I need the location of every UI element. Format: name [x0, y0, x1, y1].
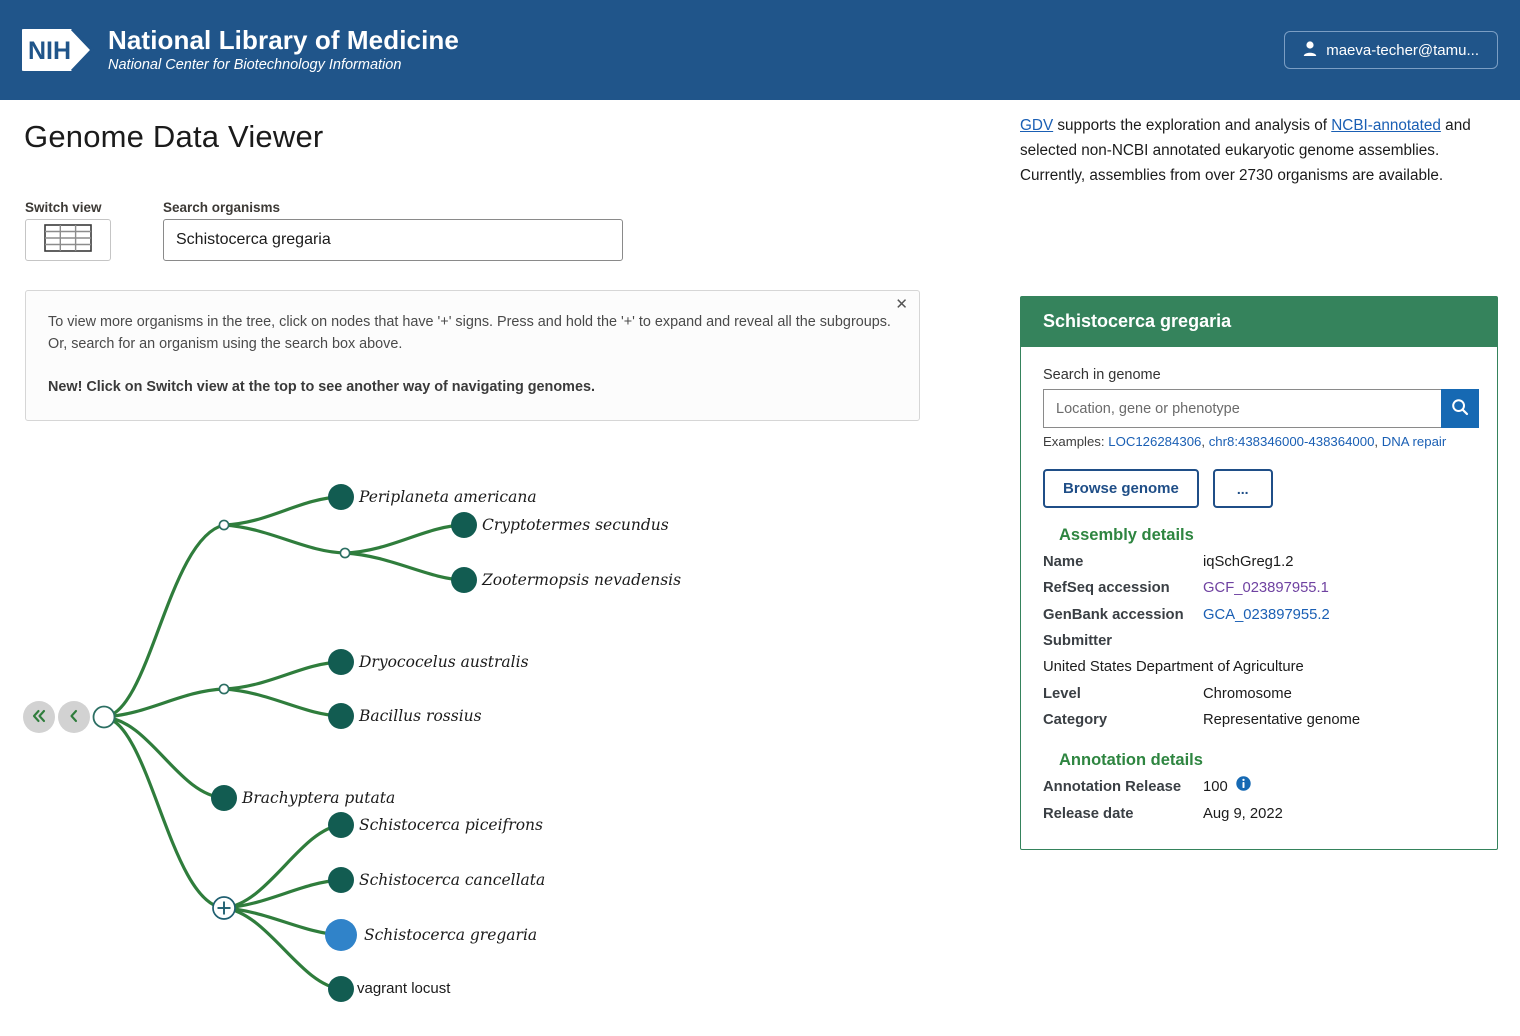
- refseq-row: RefSeq accession GCF_023897955.1: [1043, 575, 1475, 601]
- gdv-desc-part-1: supports the exploration and analysis of: [1053, 117, 1331, 134]
- genbank-label: GenBank accession: [1043, 602, 1203, 628]
- refseq-accession-link[interactable]: GCF_023897955.1: [1203, 580, 1329, 596]
- submitter-row: Submitter: [1043, 628, 1475, 654]
- example-link-region[interactable]: chr8:438346000-438364000: [1209, 434, 1375, 449]
- assembly-name-label: Name: [1043, 549, 1203, 575]
- page-title: Genome Data Viewer: [24, 119, 323, 155]
- release-date-row: Release date Aug 9, 2022: [1043, 801, 1475, 827]
- assembly-name-value: iqSchGreg1.2: [1203, 549, 1475, 575]
- annotation-release-row: Annotation Release 100: [1043, 774, 1475, 800]
- tree-leaf-node[interactable]: [328, 484, 354, 510]
- search-organisms-group: Search organisms: [163, 200, 623, 261]
- tree-node-label[interactable]: Dryococelus australis: [359, 653, 529, 671]
- submitter-label: Submitter: [1043, 628, 1203, 654]
- help-line-new: New! Click on Switch view at the top to …: [48, 376, 895, 398]
- logo-primary-text: National Library of Medicine: [108, 27, 459, 54]
- genbank-accession-link[interactable]: GCA_023897955.2: [1203, 607, 1330, 623]
- tree-leaf-node[interactable]: [451, 512, 477, 538]
- tree-help-box: ✕ To view more organisms in the tree, cl…: [25, 290, 920, 421]
- tree-leaf-node[interactable]: [328, 812, 354, 838]
- account-button[interactable]: maeva-techer@tamu...: [1284, 31, 1498, 69]
- organism-detail-panel: Schistocerca gregaria Search in genome E…: [1020, 296, 1498, 850]
- example-link-locus[interactable]: LOC126284306: [1108, 434, 1201, 449]
- person-icon: [1303, 41, 1317, 60]
- tree-leaf-node[interactable]: [211, 785, 237, 811]
- nih-logo-mark-icon: NIH: [22, 21, 94, 79]
- switch-view-button[interactable]: [25, 219, 111, 261]
- search-examples: Examples: LOC126284306, chr8:438346000-4…: [1043, 434, 1475, 449]
- example-link-phenotype[interactable]: DNA repair: [1382, 434, 1447, 449]
- tree-back-button[interactable]: [58, 701, 90, 733]
- panel-actions: Browse genome ...: [1043, 469, 1475, 508]
- logo-secondary-text: National Center for Biotechnology Inform…: [108, 58, 459, 73]
- search-genome-label: Search in genome: [1043, 367, 1475, 383]
- gdv-link[interactable]: GDV: [1020, 117, 1053, 134]
- tree-node-label[interactable]: Periplaneta americana: [359, 488, 537, 506]
- tree-node-label[interactable]: Cryptotermes secundus: [482, 516, 669, 534]
- ncbi-annotated-link[interactable]: NCBI-annotated: [1331, 117, 1441, 134]
- genbank-row: GenBank accession GCA_023897955.2: [1043, 602, 1475, 628]
- tree-branches: [0, 452, 960, 1036]
- refseq-label: RefSeq accession: [1043, 575, 1203, 601]
- tree-node-label[interactable]: Schistocerca cancellata: [359, 871, 545, 889]
- help-line-2: Or, search for an organism using the sea…: [48, 333, 895, 355]
- assembly-name-row: Name iqSchGreg1.2: [1043, 549, 1475, 575]
- more-options-button[interactable]: ...: [1213, 469, 1273, 508]
- organism-panel-title: Schistocerca gregaria: [1021, 297, 1497, 347]
- release-date-value: Aug 9, 2022: [1203, 801, 1475, 827]
- tree-node-label[interactable]: Bacillus rossius: [359, 707, 482, 725]
- double-chevron-left-icon: [30, 708, 48, 727]
- tree-leaf-node-selected[interactable]: [325, 919, 357, 951]
- category-value: Representative genome: [1203, 707, 1475, 733]
- account-label: maeva-techer@tamu...: [1326, 42, 1479, 59]
- tree-leaf-node[interactable]: [451, 567, 477, 593]
- svg-text:NIH: NIH: [28, 37, 71, 65]
- browse-genome-button[interactable]: Browse genome: [1043, 469, 1199, 508]
- tree-first-button[interactable]: [23, 701, 55, 733]
- magnifier-icon: [1451, 398, 1469, 419]
- tree-node-label[interactable]: Brachyptera putata: [242, 789, 395, 807]
- organism-tree[interactable]: Periplaneta americana Cryptotermes secun…: [0, 452, 960, 1036]
- info-circle-icon[interactable]: [1236, 779, 1251, 795]
- switch-view-label: Switch view: [25, 200, 111, 215]
- tree-node-label[interactable]: Schistocerca piceifrons: [359, 816, 543, 834]
- switch-view-group: Switch view: [25, 200, 111, 261]
- tree-node-label-selected[interactable]: Schistocerca gregaria: [364, 926, 537, 944]
- level-value: Chromosome: [1203, 681, 1475, 707]
- search-organisms-input[interactable]: [163, 219, 623, 261]
- search-organisms-label: Search organisms: [163, 200, 623, 215]
- close-icon[interactable]: ✕: [892, 294, 911, 315]
- table-grid-icon: [44, 224, 92, 257]
- gdv-description: GDV supports the exploration and analysi…: [1020, 114, 1500, 188]
- help-line-1: To view more organisms in the tree, clic…: [48, 311, 895, 333]
- examples-prefix: Examples:: [1043, 434, 1108, 449]
- submitter-value: United States Department of Agriculture: [1043, 654, 1475, 680]
- tree-root-node[interactable]: [94, 707, 115, 728]
- tree-node-label[interactable]: Zootermopsis nevadensis: [482, 571, 681, 589]
- search-genome-input[interactable]: [1043, 389, 1441, 428]
- plus-node-icon[interactable]: [213, 897, 235, 919]
- tree-node-label[interactable]: vagrant locust: [357, 980, 450, 997]
- search-genome-row: [1043, 389, 1479, 428]
- tree-leaf-node[interactable]: [328, 867, 354, 893]
- nih-logo[interactable]: NIH National Library of Medicine Nationa…: [22, 21, 459, 79]
- level-row: Level Chromosome: [1043, 681, 1475, 707]
- category-label: Category: [1043, 707, 1203, 733]
- search-genome-button[interactable]: [1441, 389, 1479, 428]
- tree-internal-node[interactable]: [340, 548, 349, 557]
- annotation-details-heading: Annotation details: [1059, 751, 1475, 770]
- level-label: Level: [1043, 681, 1203, 707]
- tree-leaf-node[interactable]: [328, 976, 354, 1002]
- tree-internal-node[interactable]: [219, 684, 228, 693]
- category-row: Category Representative genome: [1043, 707, 1475, 733]
- assembly-details-heading: Assembly details: [1059, 526, 1475, 545]
- site-header: NIH National Library of Medicine Nationa…: [0, 0, 1520, 100]
- controls-row: Switch view Search organisms: [25, 200, 623, 261]
- chevron-left-icon: [67, 708, 81, 727]
- tree-leaf-node[interactable]: [328, 703, 354, 729]
- tree-internal-node[interactable]: [219, 520, 228, 529]
- tree-leaf-node[interactable]: [328, 649, 354, 675]
- release-date-label: Release date: [1043, 801, 1203, 827]
- annotation-release-value: 100: [1203, 779, 1228, 795]
- annotation-release-label: Annotation Release: [1043, 774, 1203, 800]
